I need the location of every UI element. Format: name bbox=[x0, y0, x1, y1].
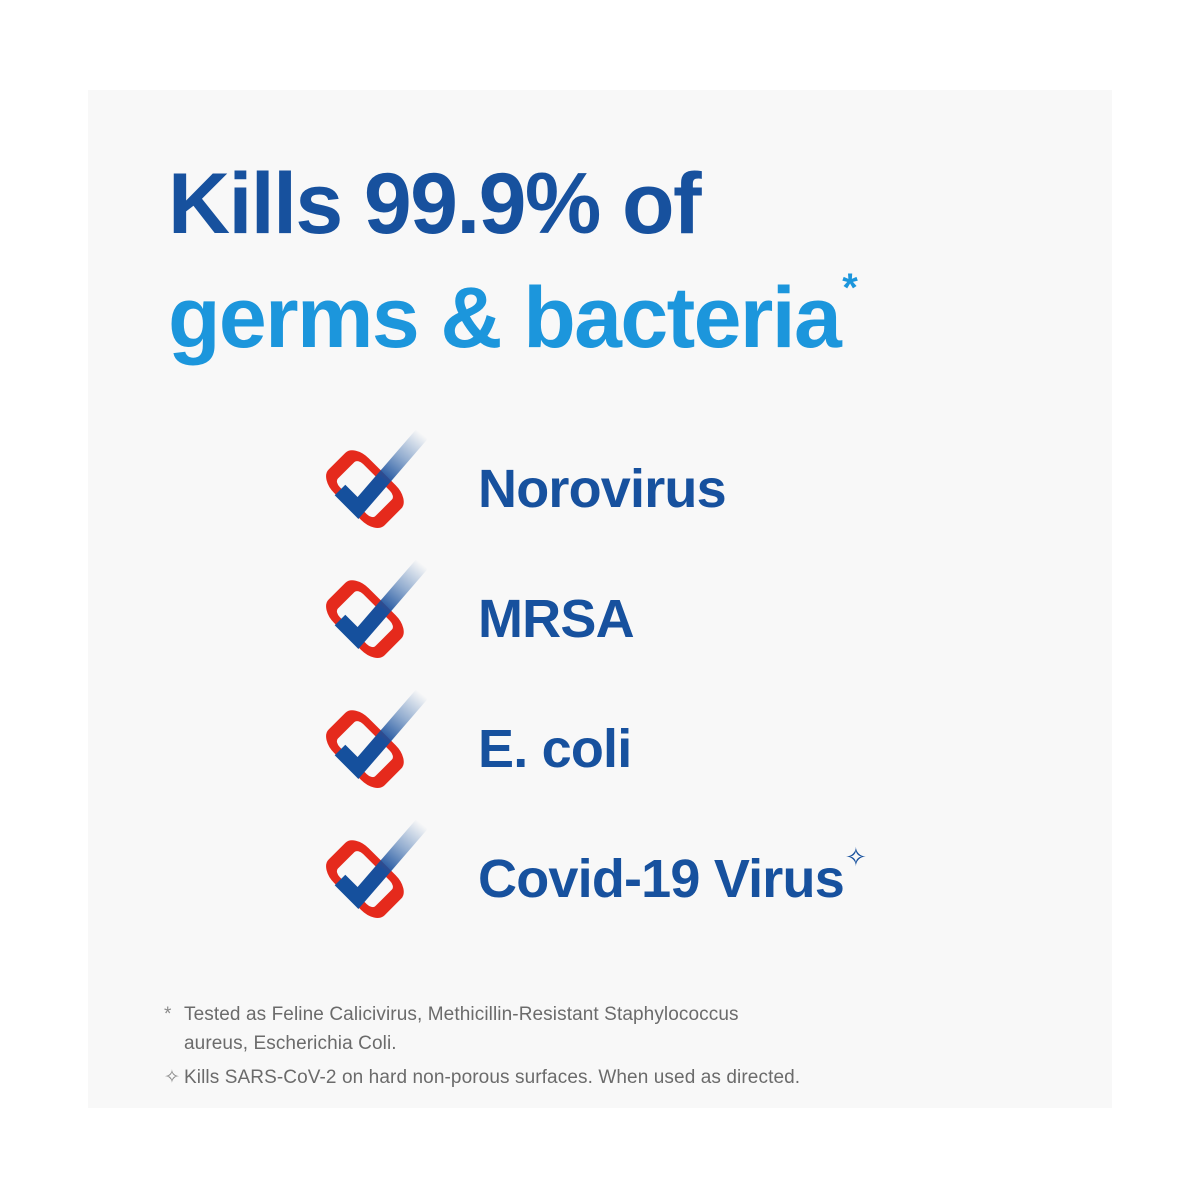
red-diamond-blue-check-icon bbox=[306, 564, 446, 674]
footnote-marker-asterisk: * bbox=[164, 1000, 184, 1029]
red-diamond-blue-check-icon bbox=[306, 824, 446, 934]
footnote-1: * Tested as Feline Calicivirus, Methicil… bbox=[164, 1000, 1064, 1059]
headline-line-2: germs & bacteria* bbox=[168, 262, 1068, 376]
list-item: E. coli bbox=[306, 684, 1066, 814]
list-item: MRSA bbox=[306, 554, 1066, 684]
claims-list: Norovirus bbox=[306, 424, 1066, 944]
red-diamond-blue-check-icon bbox=[306, 434, 446, 544]
page-title: Kills 99.9% of germs & bacteria* bbox=[168, 148, 1068, 375]
claim-label-text: Norovirus bbox=[478, 459, 726, 519]
footnote-text: Tested as Feline Calicivirus, Methicilli… bbox=[184, 1000, 784, 1059]
promo-card: Kills 99.9% of germs & bacteria* bbox=[0, 0, 1200, 1200]
headline-line-2-text: germs & bacteria bbox=[168, 270, 840, 366]
claim-label-text: Covid-19 Virus bbox=[478, 849, 844, 909]
red-diamond-blue-check-icon bbox=[306, 694, 446, 804]
list-item: Covid-19 Virus✧ bbox=[306, 814, 1066, 944]
claim-label: Covid-19 Virus✧ bbox=[478, 852, 865, 906]
list-item: Norovirus bbox=[306, 424, 1066, 554]
footnote-text: Kills SARS-CoV-2 on hard non-porous surf… bbox=[184, 1063, 1064, 1092]
headline-line-1: Kills 99.9% of bbox=[168, 148, 1068, 262]
claim-label: Norovirus bbox=[478, 462, 726, 516]
claim-label: MRSA bbox=[478, 592, 634, 646]
claim-superscript: ✧ bbox=[845, 842, 866, 872]
claim-label-text: E. coli bbox=[478, 719, 631, 779]
footnote-2: ✧ Kills SARS-CoV-2 on hard non-porous su… bbox=[164, 1063, 1064, 1092]
headline-asterisk: * bbox=[842, 266, 858, 310]
footnote-marker-sparkle: ✧ bbox=[164, 1063, 184, 1092]
claim-label-text: MRSA bbox=[478, 589, 634, 649]
footnotes: * Tested as Feline Calicivirus, Methicil… bbox=[164, 1000, 1064, 1092]
claim-label: E. coli bbox=[478, 722, 631, 776]
